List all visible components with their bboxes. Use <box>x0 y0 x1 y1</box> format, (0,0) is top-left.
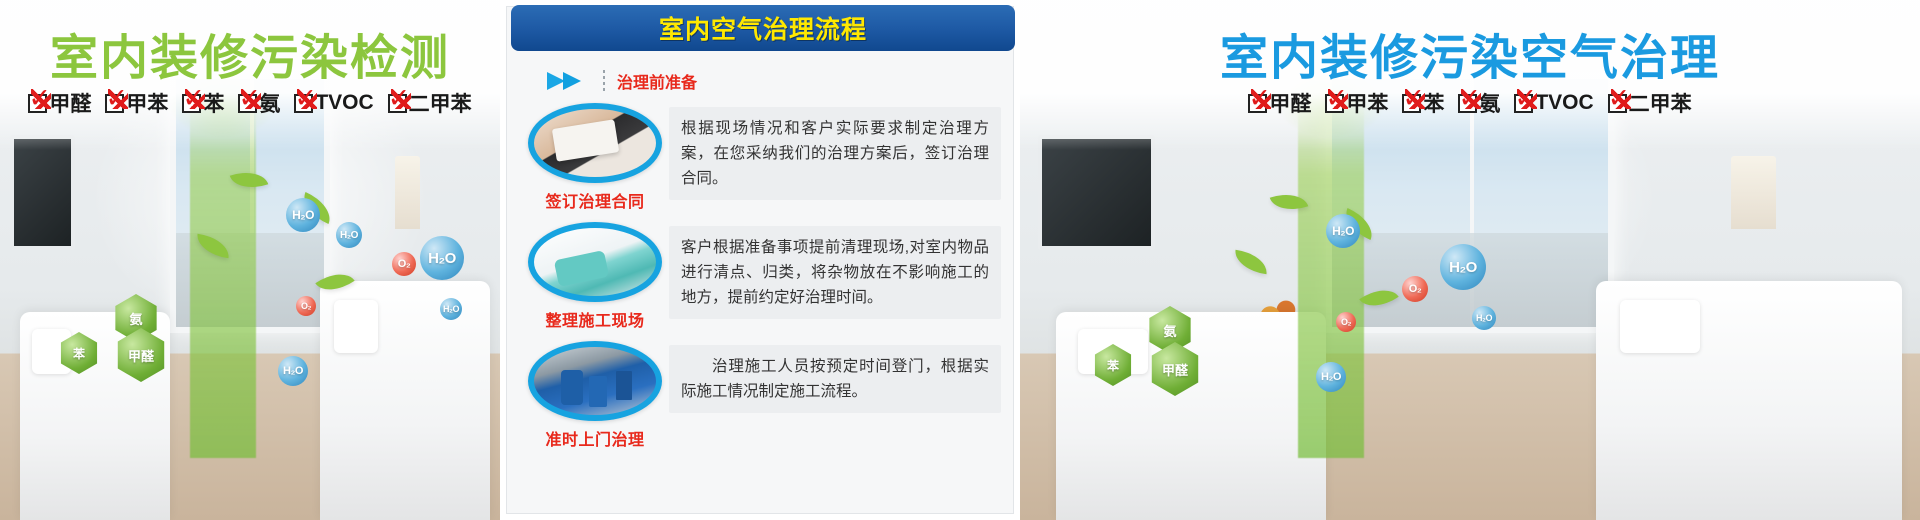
cleaning-site-photo <box>528 222 662 302</box>
check-item: ✓甲醛 <box>28 88 91 118</box>
process-step: 准时上门治理 治理施工人员按预定时间登门，根据实际施工情况制定施工流程。 <box>521 341 1001 450</box>
bed-right <box>1596 281 1902 520</box>
check-item: ✓TVOC <box>294 91 373 115</box>
step-description: 根据现场情况和客户实际要求制定治理方案，在您采纳我们的治理方案后，签订治理合同。 <box>669 107 1001 200</box>
check-item: ✓苯 <box>1402 88 1444 118</box>
tv-screen <box>10 135 75 249</box>
right-panel: H₂O H₂O H₂O H₂O O₂ O₂ 氨 甲醛 苯 室内装修污染空气治理 … <box>1020 0 1920 520</box>
check-label: 甲醛 <box>49 88 91 118</box>
double-arrow-right-icon <box>547 69 591 93</box>
step-description: 客户根据准备事项提前清理现场,对室内物品进行清点、归类，将杂物放在不影响施工的地… <box>669 226 1001 319</box>
process-step-list: 签订治理合同 根据现场情况和客户实际要求制定治理方案，在您采纳我们的治理方案后，… <box>521 103 1001 460</box>
check-item: ✓TVOC <box>1514 91 1593 115</box>
check-item: ✓氨 <box>1458 88 1500 118</box>
process-card: 室内空气治理流程 治理前准备 签订治理合同 根据现场情况和客户实际要求制定治理方… <box>506 6 1014 514</box>
check-label: 甲苯 <box>126 88 168 118</box>
check-item: ✓甲苯 <box>1325 88 1388 118</box>
bed-left <box>1056 312 1326 520</box>
step-description: 治理施工人员按预定时间登门，根据实际施工情况制定施工流程。 <box>669 345 1001 413</box>
right-headline: 室内装修污染空气治理 <box>1020 18 1920 88</box>
checkbox-checked-icon: ✓ <box>182 94 201 113</box>
checkbox-checked-icon: ✓ <box>1608 94 1627 113</box>
right-check-list: ✓甲醛 ✓甲苯 ✓苯 ✓氨 ✓TVOC ✓二甲苯 <box>1020 88 1920 118</box>
check-item: ✓甲醛 <box>1248 88 1311 118</box>
checkbox-checked-icon: ✓ <box>388 94 407 113</box>
process-card-panel: 室内空气治理流程 治理前准备 签订治理合同 根据现场情况和客户实际要求制定治理方… <box>500 0 1020 520</box>
checkbox-checked-icon: ✓ <box>1514 94 1533 113</box>
check-label: 甲苯 <box>1346 88 1388 118</box>
left-check-list: ✓甲醛 ✓甲苯 ✓苯 ✓氨 ✓TVOC ✓二甲苯 <box>0 88 500 118</box>
step-caption: 签订治理合同 <box>521 188 669 212</box>
workers-onsite-photo <box>528 341 662 421</box>
checkbox-checked-icon: ✓ <box>1402 94 1421 113</box>
check-label: 甲醛 <box>1269 88 1311 118</box>
card-header-title: 室内空气治理流程 <box>511 5 1015 51</box>
check-label: TVOC <box>315 91 373 115</box>
checkbox-checked-icon: ✓ <box>28 94 47 113</box>
check-item: ✓二甲苯 <box>1608 88 1692 118</box>
checkbox-checked-icon: ✓ <box>294 94 313 113</box>
check-item: ✓二甲苯 <box>388 88 472 118</box>
check-item: ✓氨 <box>238 88 280 118</box>
check-label: 二甲苯 <box>409 88 472 118</box>
dotted-divider <box>603 70 605 92</box>
process-step: 签订治理合同 根据现场情况和客户实际要求制定治理方案，在您采纳我们的治理方案后，… <box>521 103 1001 212</box>
check-label: TVOC <box>1535 91 1593 115</box>
step-caption: 准时上门治理 <box>521 426 669 450</box>
stage-label-row: 治理前准备 <box>547 69 697 93</box>
floor-lamp <box>1731 156 1776 229</box>
stage-label: 治理前准备 <box>617 69 697 93</box>
left-headline: 室内装修污染检测 <box>0 18 500 88</box>
checkbox-checked-icon: ✓ <box>1248 94 1267 113</box>
tv-screen <box>1038 135 1155 249</box>
checkbox-checked-icon: ✓ <box>1325 94 1344 113</box>
step-thumb-block: 准时上门治理 <box>521 341 669 450</box>
check-item: ✓苯 <box>182 88 224 118</box>
left-panel: H₂O H₂O H₂O H₂O H₂O O₂ O₂ 氨 甲醛 苯 室内装修污染检… <box>0 0 500 520</box>
floor-lamp <box>395 156 420 229</box>
step-thumb-block: 整理施工现场 <box>521 222 669 331</box>
check-item: ✓甲苯 <box>105 88 168 118</box>
checkbox-checked-icon: ✓ <box>238 94 257 113</box>
checkbox-checked-icon: ✓ <box>1458 94 1477 113</box>
bed-left <box>20 312 170 520</box>
bed-right <box>320 281 490 520</box>
step-caption: 整理施工现场 <box>521 307 669 331</box>
signing-contract-photo <box>528 103 662 183</box>
process-step: 整理施工现场 客户根据准备事项提前清理现场,对室内物品进行清点、归类，将杂物放在… <box>521 222 1001 331</box>
banner-stage: H₂O H₂O H₂O H₂O H₂O O₂ O₂ 氨 甲醛 苯 室内装修污染检… <box>0 0 1920 520</box>
check-label: 二甲苯 <box>1629 88 1692 118</box>
step-thumb-block: 签订治理合同 <box>521 103 669 212</box>
checkbox-checked-icon: ✓ <box>105 94 124 113</box>
